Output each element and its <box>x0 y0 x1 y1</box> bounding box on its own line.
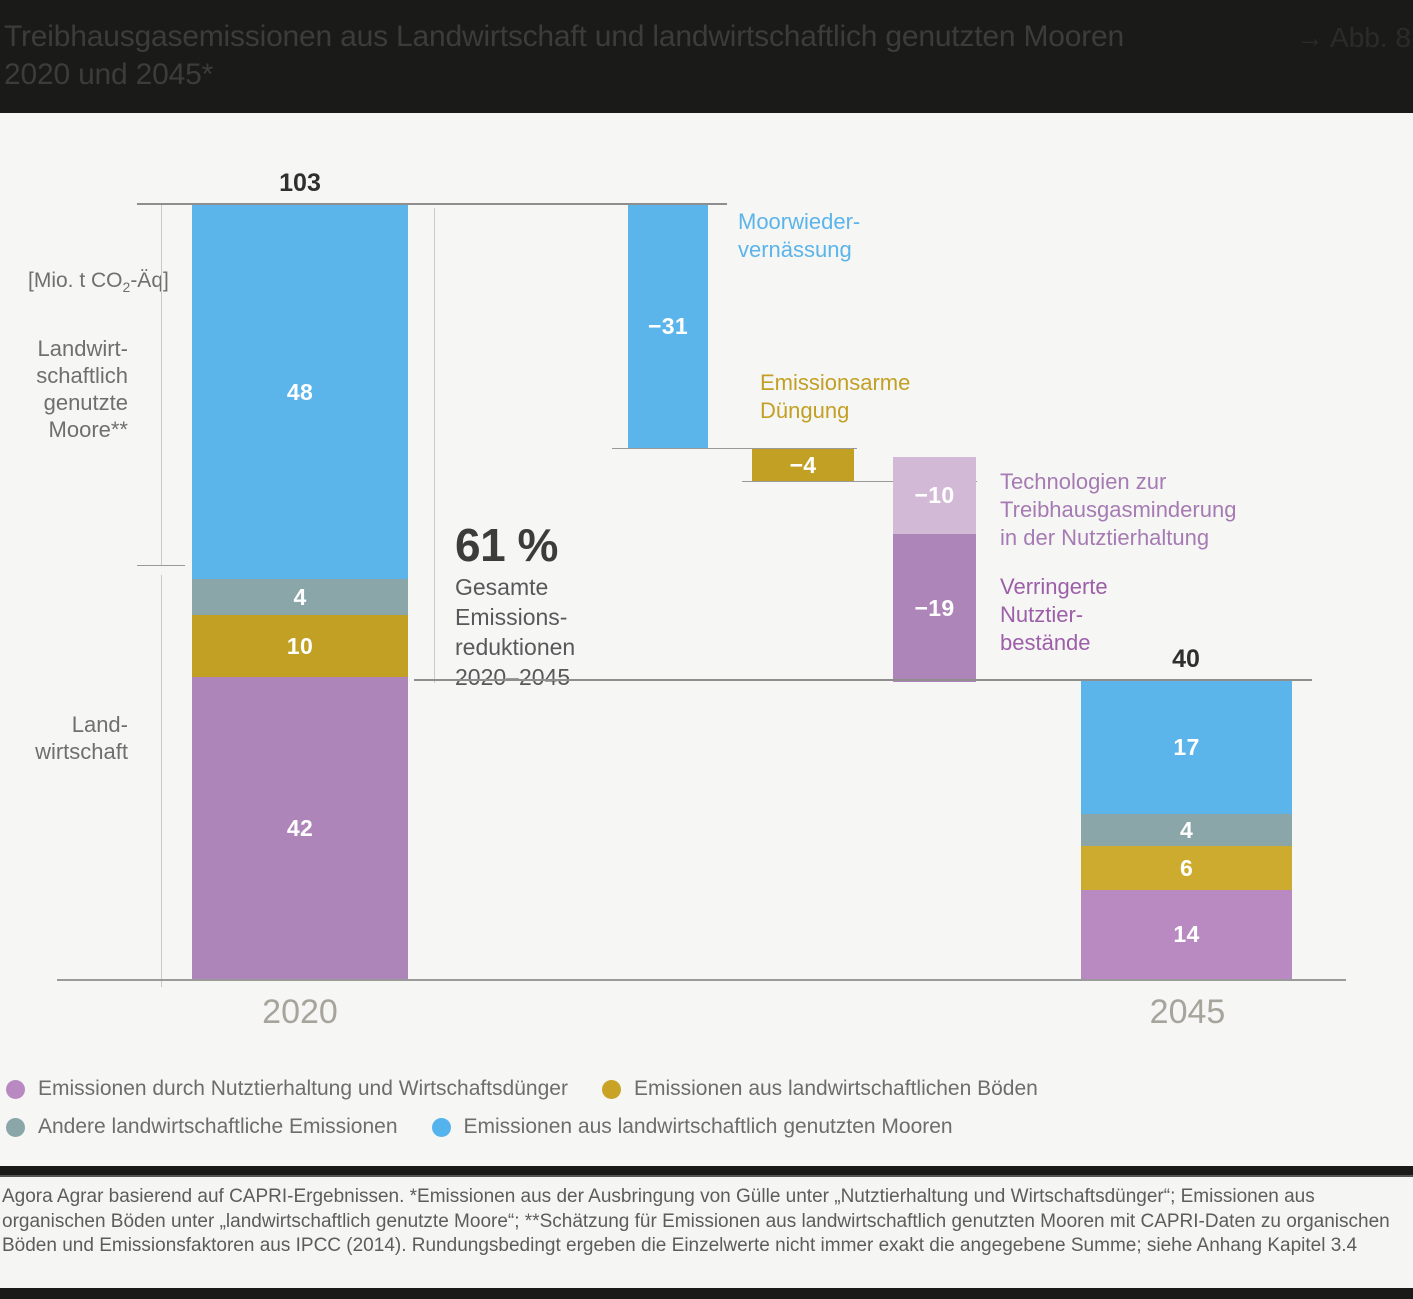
reduction-percent: 61 % <box>455 518 675 572</box>
category-label-landwirtschaft: Land- wirtschaft <box>0 711 128 765</box>
bar-value-2020-moore: 48 <box>287 379 313 406</box>
bar-2020-moore: 48 <box>192 205 408 579</box>
x-axis-tick-2045: 2045 <box>1080 993 1295 1032</box>
separator-line-left <box>434 208 435 683</box>
bar-value-2045-moore: 17 <box>1173 734 1199 761</box>
figure-header: Treibhausgasemissionen aus Landwirtschaf… <box>0 0 1413 113</box>
legend-item-boeden[interactable]: Emissionen aus landwirtschaftlichen Böde… <box>602 1077 1038 1101</box>
source-footnote: Agora Agrar basierend auf CAPRI-Ergebnis… <box>2 1185 1407 1259</box>
category-label-moore: Landwirt- schaftlich genutzte Moore** <box>0 335 128 443</box>
legend-item-moore[interactable]: Emissionen aus landwirtschaftlich genutz… <box>432 1115 953 1139</box>
legend-item-nutztierhaltung[interactable]: Emissionen durch Nutztierhaltung und Wir… <box>6 1077 568 1101</box>
bar-2045-andere: 4 <box>1081 814 1292 846</box>
bar-2045-boden: 6 <box>1081 846 1292 890</box>
legend-label-moore: Emissionen aus landwirtschaftlich genutz… <box>464 1115 953 1139</box>
waterfall-label-duengung: Emissionsarme Düngung <box>760 369 1060 425</box>
waterfall-value-duengung: −4 <box>790 452 817 479</box>
bracket-line-moore <box>161 205 162 565</box>
waterfall-value-nutztierbestaende: −19 <box>915 595 955 622</box>
bar-2020-andere: 4 <box>192 579 408 615</box>
bracket-tick-mid <box>137 565 185 566</box>
footer-divider-rule <box>0 1175 1413 1177</box>
chart-panel: [Mio. t CO2-Äq] 103 48 4 10 42 Landwirt-… <box>0 113 1413 1053</box>
waterfall-bar-nutztierbestaende: −19 <box>893 534 976 682</box>
waterfall-bar-duengung: −4 <box>752 449 854 481</box>
y-axis-unit-label: [Mio. t CO2-Äq] <box>28 269 169 295</box>
legend-swatch-icon-boeden <box>602 1080 621 1099</box>
bottom-edge-bar <box>0 1288 1413 1299</box>
legend-item-andere[interactable]: Andere landwirtschaftliche Emissionen <box>6 1115 398 1139</box>
waterfall-bar-moorwiedervernaessung: −31 <box>628 205 708 448</box>
x-axis-baseline <box>57 979 1346 981</box>
waterfall-bar-technologien: −10 <box>893 457 976 534</box>
page-title: Treibhausgasemissionen aus Landwirtschaf… <box>4 18 1144 94</box>
bar-2020-boden: 10 <box>192 615 408 677</box>
figure-page: Treibhausgasemissionen aus Landwirtschaf… <box>0 0 1413 1299</box>
total-label-2045: 40 <box>1086 645 1286 674</box>
legend-swatch-icon-nutztierhaltung <box>6 1080 25 1099</box>
legend-swatch-icon-andere <box>6 1118 25 1137</box>
legend-label-nutztierhaltung: Emissionen durch Nutztierhaltung und Wir… <box>38 1077 568 1101</box>
figure-reference: → Abb. 8 <box>1296 22 1411 54</box>
waterfall-value-technologien: −10 <box>915 482 955 509</box>
legend-row-2: Andere landwirtschaftliche Emissionen Em… <box>6 1115 987 1139</box>
reduction-annotation: 61 % Gesamte Emissions- reduktionen 2020… <box>455 518 675 692</box>
unit-prefix: [Mio. t CO <box>28 269 123 292</box>
bar-value-2045-nutztier: 14 <box>1173 921 1199 948</box>
legend-label-andere: Andere landwirtschaftliche Emissionen <box>38 1115 398 1139</box>
chart-legend: Emissionen durch Nutztierhaltung und Wir… <box>0 1053 1413 1166</box>
bar-value-2020-boden: 10 <box>287 633 313 660</box>
bracket-line-landwirtschaft <box>161 575 162 987</box>
waterfall-label-moorwiedervernaessung: Moorwieder- vernässung <box>738 208 998 264</box>
legend-swatch-icon-moore <box>432 1118 451 1137</box>
reduction-caption: Gesamte Emissions- reduktionen 2020–2045 <box>455 572 675 692</box>
waterfall-label-technologien: Technologien zur Treibhausgasminderung i… <box>1000 468 1330 552</box>
total-label-2020: 103 <box>200 169 400 198</box>
bar-value-2045-andere: 4 <box>1180 817 1193 844</box>
bar-value-2020-andere: 4 <box>293 584 306 611</box>
bar-2045-moore: 17 <box>1081 681 1292 814</box>
unit-suffix: -Äq] <box>130 269 169 292</box>
bar-2020-nutztier: 42 <box>192 677 408 979</box>
bar-value-2020-nutztier: 42 <box>287 815 313 842</box>
bar-2045-nutztier: 14 <box>1081 890 1292 979</box>
waterfall-value-moorwiedervernaessung: −31 <box>648 313 688 340</box>
legend-row-1: Emissionen durch Nutztierhaltung und Wir… <box>6 1077 1072 1101</box>
legend-label-boeden: Emissionen aus landwirtschaftlichen Böde… <box>634 1077 1038 1101</box>
bar-value-2045-boden: 6 <box>1180 855 1193 882</box>
footer-divider-dark <box>0 1166 1413 1175</box>
x-axis-tick-2020: 2020 <box>190 993 410 1032</box>
